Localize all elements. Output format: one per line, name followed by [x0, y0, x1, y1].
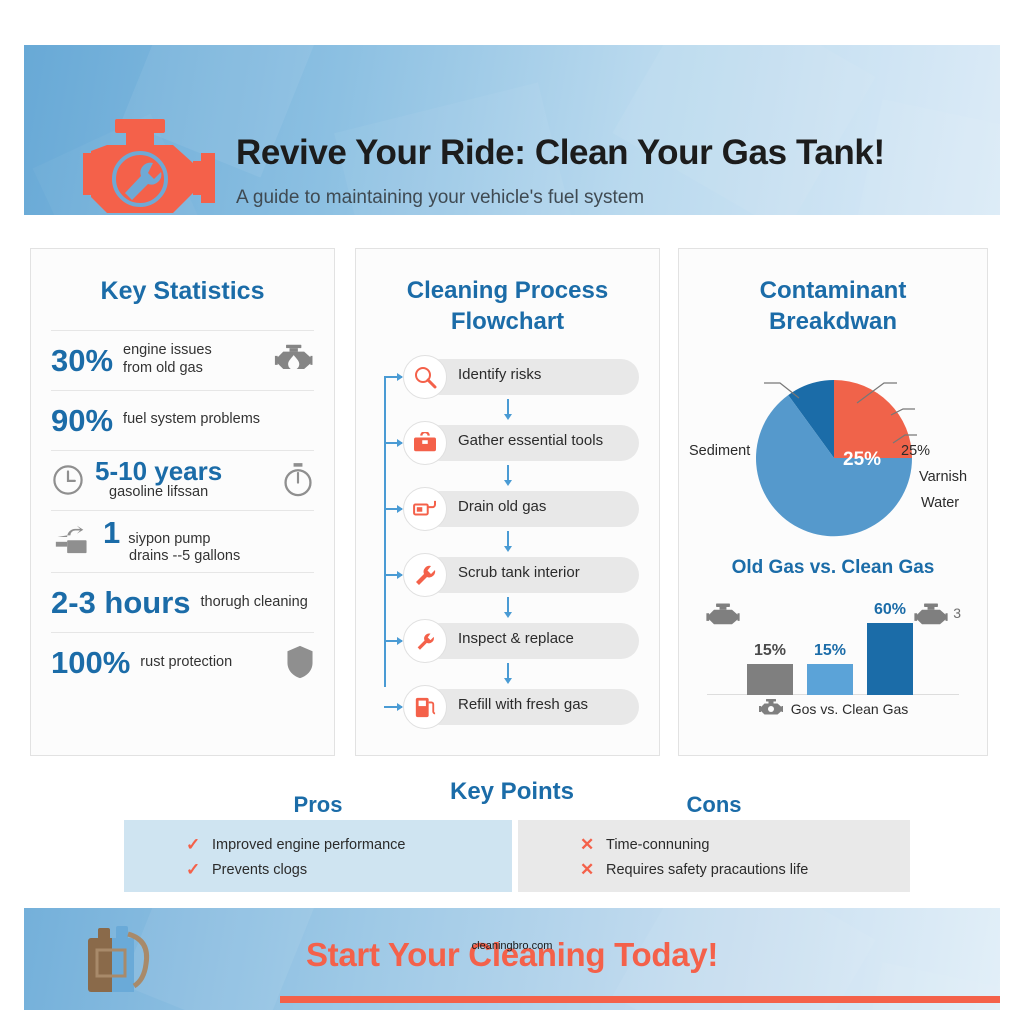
cons-heading: Cons — [518, 792, 910, 818]
bar-group: 15% — [747, 642, 793, 695]
flow-panel-title: Cleaning Process Flowchart — [356, 249, 659, 337]
chart-title-line2: Breakdwan — [679, 306, 987, 337]
flow-connector-arrow — [384, 640, 402, 642]
list-item: ✓ Improved engine performance — [186, 832, 512, 857]
stat-label-line: engine issues — [123, 342, 262, 360]
cons-list: ✕ Time-connuning ✕ Requires safety praca… — [518, 820, 910, 882]
bar-chart-title: Old Gas vs. Clean Gas — [679, 557, 987, 579]
flow-connector-arrow — [384, 376, 402, 378]
list-item: ✕ Time-connuning — [580, 832, 910, 857]
pie-chart: 25% Sediment 25% Varnish Water — [679, 343, 987, 553]
engine-icon — [705, 603, 741, 629]
flow-step[interactable]: Drain old gas — [370, 487, 645, 531]
pie-slice-label: 25% — [843, 449, 881, 470]
stat-label: fuel system problems — [123, 411, 314, 429]
flow-step[interactable]: Refill with fresh gas — [370, 685, 645, 729]
flow-connector-arrow — [384, 442, 402, 444]
watermark: cleaningbro.com — [0, 940, 1024, 952]
pie-annotation-varnish: Varnish — [919, 469, 967, 485]
pie-annotation-percent: 25% — [901, 443, 930, 459]
key-statistics-panel: Key Statistics 30% engine issues from ol… — [30, 248, 335, 756]
wrench-small-icon — [414, 630, 436, 652]
clock-icon — [51, 463, 85, 497]
flow-down-arrow — [507, 399, 509, 415]
flow-step-label: Scrub tank interior — [458, 564, 580, 581]
engine-icon — [913, 603, 949, 629]
bar-axis-label-group: Gos vs. Clean Gas — [701, 699, 965, 719]
flow-step-label: Inspect & replace — [458, 630, 574, 647]
pros-box: Pros ✓ Improved engine performance ✓ Pre… — [124, 820, 512, 892]
flow-step[interactable]: Scrub tank interior — [370, 553, 645, 597]
toolbox-icon — [413, 432, 437, 454]
footer-accent-bar — [280, 996, 1000, 1003]
stat-value: 1 — [103, 517, 120, 548]
chart-title-line1: Contaminant — [679, 275, 987, 306]
bar-axis-label: Gos vs. Clean Gas — [791, 701, 909, 717]
stat-row: 2-3 hours thorugh cleaning — [51, 572, 314, 632]
flow-step[interactable]: Inspect & replace — [370, 619, 645, 663]
list-item: ✓ Prevents clogs — [186, 857, 512, 882]
stat-label: engine issues from old gas — [123, 342, 262, 377]
flow-down-arrow — [507, 531, 509, 547]
flow-step-label: Refill with fresh gas — [458, 696, 588, 713]
stat-value: 5-10 years — [95, 458, 272, 484]
bar-rect — [807, 664, 853, 695]
pros-item-label: Improved engine performance — [212, 837, 405, 853]
stat-value: 2-3 hours — [51, 587, 191, 618]
check-icon: ✓ — [186, 860, 200, 880]
engine-oil-drop-icon — [758, 699, 784, 719]
stat-value: 100% — [51, 647, 130, 678]
pie-annotation-sediment: Sediment — [689, 443, 750, 459]
flow-step-label: Identify risks — [458, 366, 541, 383]
wrench-icon — [413, 563, 437, 587]
pros-item-label: Prevents clogs — [212, 862, 307, 878]
infographic-page: Revive Your Ride: Clean Your Gas Tank! A… — [0, 0, 1024, 1024]
page-subtitle: A guide to maintaining your vehicle's fu… — [236, 187, 976, 209]
stat-label: rust protection — [140, 654, 276, 672]
cross-icon: ✕ — [580, 860, 594, 880]
footer-banner: Start Your Cleaning Today! — [24, 908, 1000, 1010]
stopwatch-icon — [282, 462, 314, 498]
stat-label: gasoline lifssan — [95, 484, 272, 502]
fuel-pump-icon — [414, 695, 436, 719]
flow-step-label: Gather essential tools — [458, 432, 603, 449]
cleaning-process-panel: Cleaning Process Flowchart Identify risk… — [355, 248, 660, 756]
stats-panel-title: Key Statistics — [31, 249, 334, 308]
flowchart: Identify risks Gather essential tools — [370, 355, 645, 729]
stat-row: 5-10 years gasoline lifssan — [51, 450, 314, 510]
cons-item-label: Requires safety pracautions life — [606, 862, 808, 878]
flow-down-arrow — [507, 597, 509, 613]
page-title: Revive Your Ride: Clean Your Gas Tank! — [236, 133, 976, 173]
engine-oil-drop-icon — [272, 344, 314, 376]
stat-row: 90% fuel system problems — [51, 390, 314, 450]
flow-connector-arrow — [384, 574, 402, 576]
bar-value-label: 15% — [807, 642, 853, 660]
flow-down-arrow — [507, 663, 509, 679]
bar-rect — [867, 623, 913, 695]
magnifier-icon — [413, 365, 437, 389]
cons-item-label: Time-connuning — [606, 837, 709, 853]
engine-icon-note: 3 — [953, 605, 961, 621]
stat-value: 90% — [51, 405, 113, 436]
bar-chart: 3 15% 15% 60% Gos vs — [701, 595, 965, 715]
bar-value-label: 15% — [747, 642, 793, 660]
flow-title-line2: Flowchart — [356, 306, 659, 337]
stat-label: drains --5 gallons — [103, 548, 314, 566]
stat-label-line: from old gas — [123, 360, 262, 378]
header-banner: Revive Your Ride: Clean Your Gas Tank! A… — [24, 45, 1000, 215]
flow-down-arrow — [507, 465, 509, 481]
bar-group: 15% — [807, 642, 853, 695]
stat-label: thorugh cleaning — [201, 594, 314, 612]
contaminant-breakdown-panel: Contaminant Breakdwan 25% Sediment 25% — [678, 248, 988, 756]
flow-step[interactable]: Gather essential tools — [370, 421, 645, 465]
flow-connector-arrow — [384, 706, 402, 708]
bar-group: 60% — [867, 601, 913, 695]
pros-list: ✓ Improved engine performance ✓ Prevents… — [124, 820, 512, 882]
stat-row: 1 siypon pump drains --5 gallons — [51, 510, 314, 572]
stat-value: 30% — [51, 345, 113, 376]
stats-list: 30% engine issues from old gas 90% fuel … — [51, 330, 314, 692]
drain-hose-icon — [413, 499, 437, 519]
engine-wrench-icon — [69, 117, 219, 215]
check-icon: ✓ — [186, 835, 200, 855]
bar-value-label: 60% — [867, 601, 913, 619]
flow-title-line1: Cleaning Process — [356, 275, 659, 306]
list-item: ✕ Requires safety pracautions life — [580, 857, 910, 882]
flow-step-label: Drain old gas — [458, 498, 546, 515]
flow-step[interactable]: Identify risks — [370, 355, 645, 399]
flow-connector-arrow — [384, 508, 402, 510]
siphon-pump-icon — [51, 524, 93, 558]
stat-row: 30% engine issues from old gas — [51, 330, 314, 390]
stat-row: 100% rust protection — [51, 632, 314, 692]
header-text-block: Revive Your Ride: Clean Your Gas Tank! A… — [236, 133, 976, 209]
stat-label: siypon pump — [128, 531, 314, 549]
pie-annotation-water: Water — [921, 495, 959, 511]
cons-box: Cons ✕ Time-connuning ✕ Requires safety … — [518, 820, 910, 892]
shield-icon — [286, 645, 314, 679]
pros-heading: Pros — [124, 792, 512, 818]
cross-icon: ✕ — [580, 835, 594, 855]
bar-rect — [747, 664, 793, 695]
chart-panel-title: Contaminant Breakdwan — [679, 249, 987, 337]
